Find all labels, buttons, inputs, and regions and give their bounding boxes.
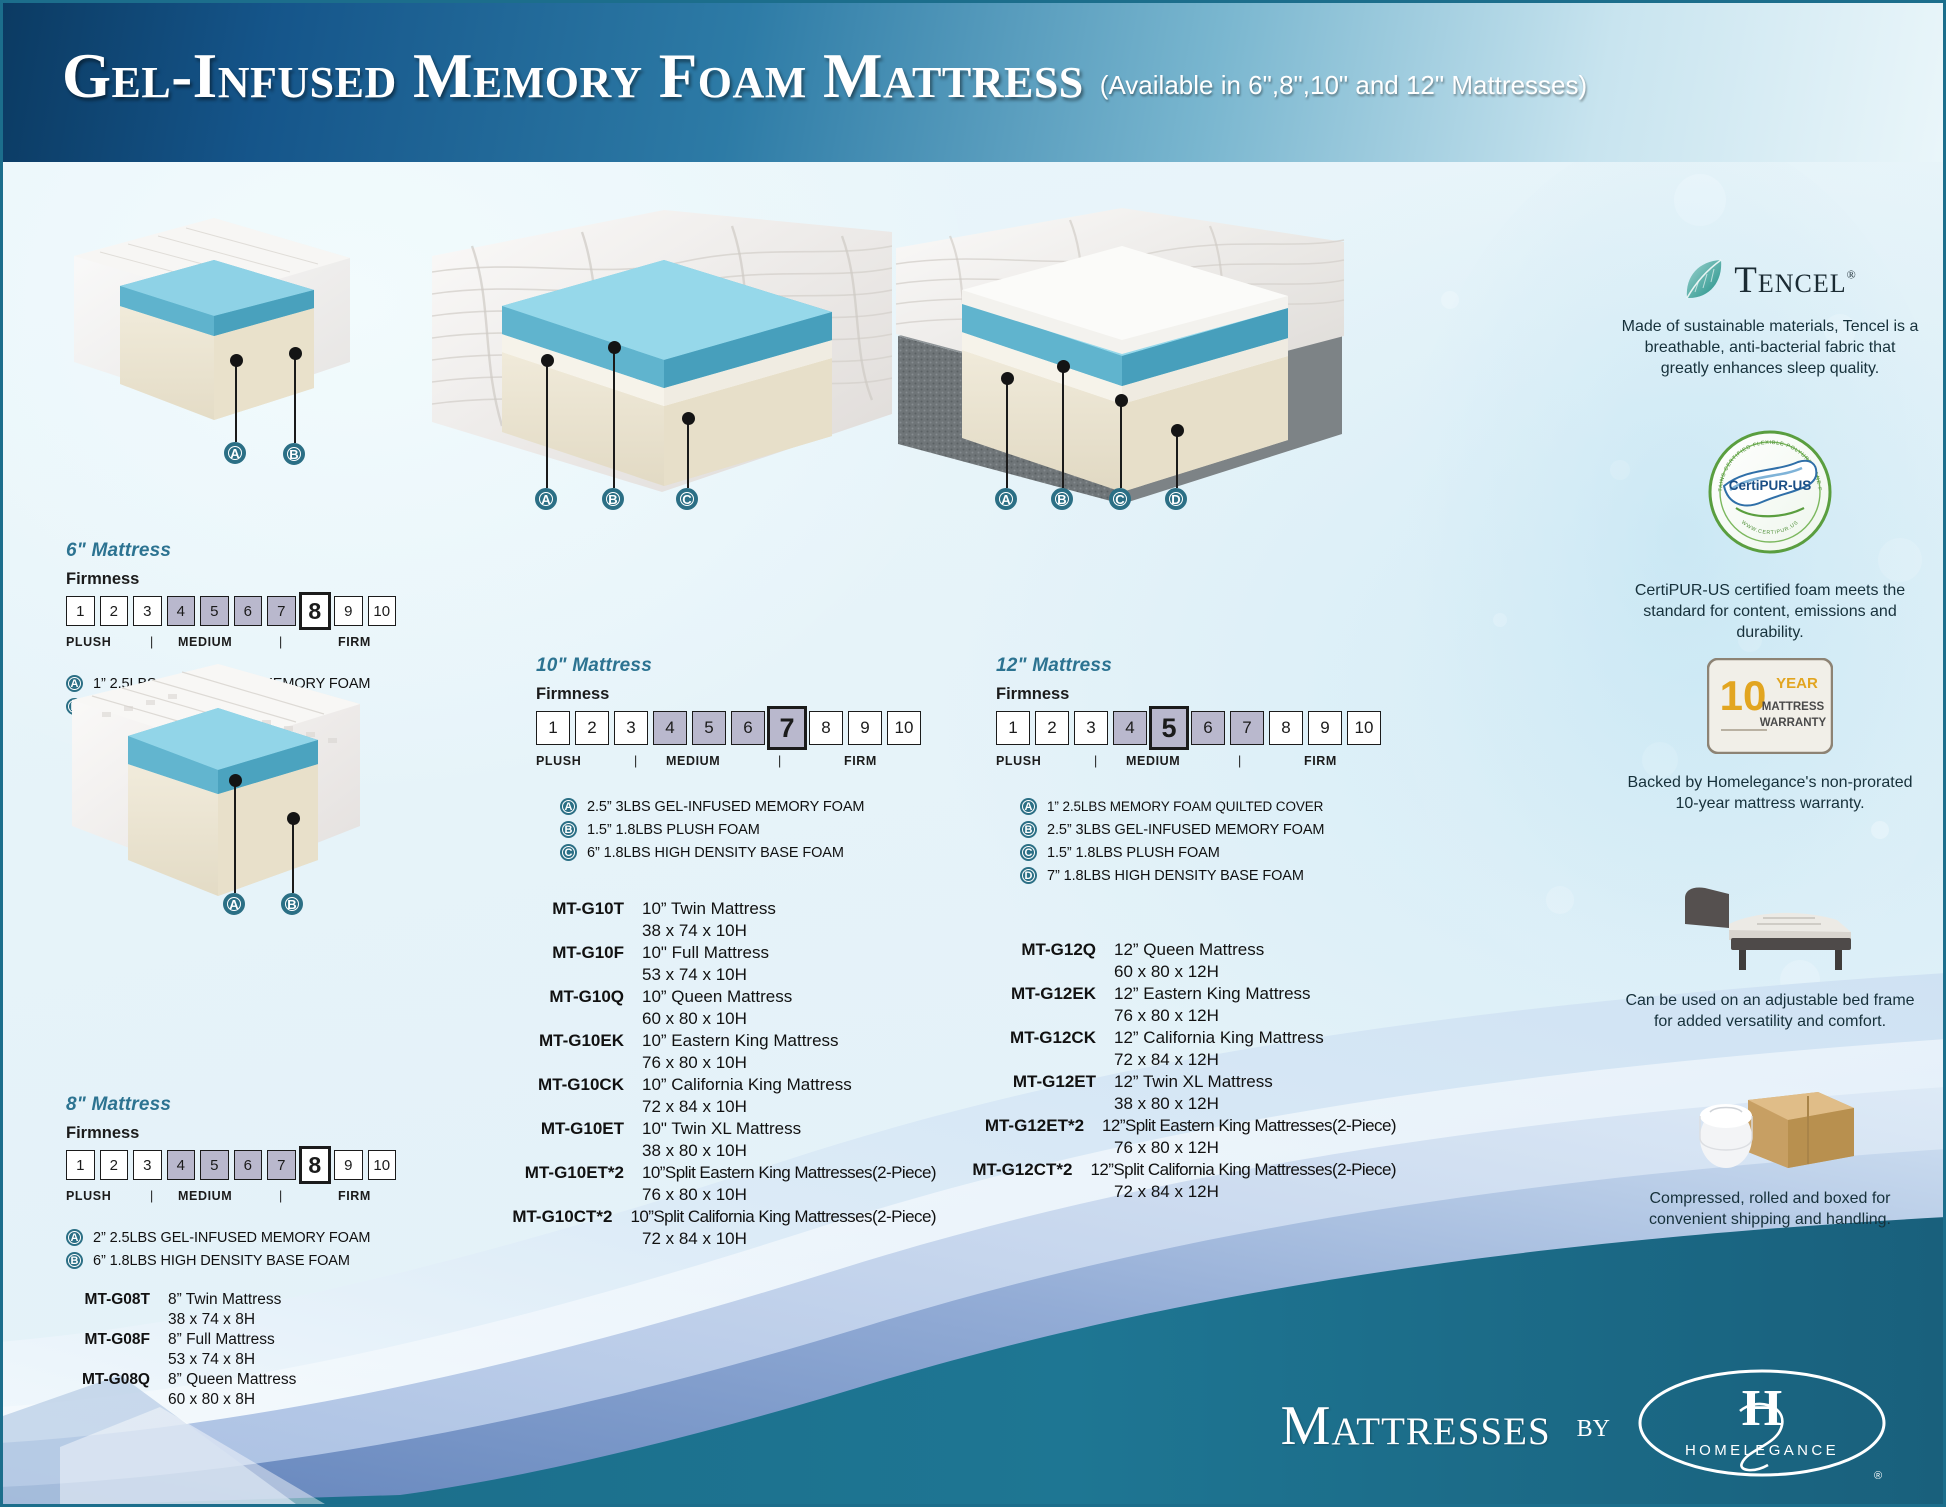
- scale-legend-10in: PLUSH | MEDIUM | FIRM: [536, 754, 936, 774]
- layer-text: 2” 2.5LBS GEL-INFUSED MEMORY FOAM: [93, 1230, 370, 1246]
- model-description: 10” Eastern King Mattress: [642, 1031, 839, 1051]
- firmness-label-6in: Firmness: [66, 570, 396, 589]
- spec-block-8in: 8" Mattress Firmness 12345678910 PLUSH |…: [66, 1094, 396, 1411]
- footer-by-word: by: [1577, 1407, 1610, 1445]
- model-sku: MT-G10EK: [424, 1031, 624, 1051]
- firmness-cell-4[interactable]: 4: [1113, 711, 1147, 745]
- firmness-cell-4[interactable]: 4: [167, 596, 196, 626]
- spec-title-8in: 8" Mattress: [66, 1094, 396, 1116]
- mattress-image-10in: [432, 210, 892, 500]
- model-description: 12”Split California King Mattresses(2-Pi…: [1090, 1160, 1396, 1180]
- model-dimension-row: 53 x 74 x 10H: [424, 965, 936, 985]
- firmness-scale-12in[interactable]: 12345678910: [996, 711, 1396, 745]
- firmness-cell-9[interactable]: 9: [334, 596, 363, 626]
- model-sku: MT-G12EK: [888, 984, 1096, 1004]
- legend-firm: FIRM: [338, 635, 371, 649]
- model-dimensions: 76 x 80 x 12H: [1114, 1006, 1219, 1026]
- firmness-cell-1[interactable]: 1: [66, 1150, 95, 1180]
- model-description: 10” Twin Mattress: [642, 899, 776, 919]
- layer-text: 6” 1.8LBS HIGH DENSITY BASE FOAM: [93, 1253, 350, 1269]
- firmness-cell-3[interactable]: 3: [1074, 711, 1108, 745]
- model-sku: MT-G10F: [424, 943, 624, 963]
- model-dimensions: 72 x 84 x 10H: [642, 1229, 747, 1249]
- scale-legend-12in: PLUSH | MEDIUM | FIRM: [996, 754, 1396, 774]
- layer-badge-c: C: [1020, 844, 1037, 861]
- model-dimension-row: 38 x 80 x 12H: [888, 1094, 1396, 1114]
- firmness-cell-8[interactable]: 8: [299, 1146, 332, 1184]
- layer-badge-b: B: [560, 821, 577, 838]
- firmness-cell-10[interactable]: 10: [368, 1150, 397, 1180]
- firmness-cell-5[interactable]: 5: [692, 711, 726, 745]
- model-description: 8” Full Mattress: [168, 1331, 275, 1349]
- firmness-cell-4[interactable]: 4: [653, 711, 687, 745]
- spacer: [424, 921, 642, 941]
- model-dimension-row: 76 x 80 x 12H: [888, 1138, 1396, 1158]
- firmness-cell-10[interactable]: 10: [368, 596, 397, 626]
- model-dimension-row: 60 x 80 x 8H: [66, 1391, 396, 1409]
- model-description: 10” Queen Mattress: [642, 987, 792, 1007]
- firmness-cell-6[interactable]: 6: [234, 1150, 263, 1180]
- model-dimensions: 38 x 80 x 12H: [1114, 1094, 1219, 1114]
- model-dimensions: 60 x 80 x 12H: [1114, 962, 1219, 982]
- spec-block-10in: 10" Mattress Firmness 12345678910 PLUSH …: [536, 655, 936, 1251]
- spacer: [66, 1311, 168, 1329]
- layer-legend-10in: A2.5” 3LBS GEL-INFUSED MEMORY FOAMB1.5” …: [560, 798, 936, 861]
- firmness-cell-7[interactable]: 7: [1230, 711, 1264, 745]
- layer-text: 1” 2.5LBS MEMORY FOAM QUILTED COVER: [1047, 799, 1323, 814]
- layer-text: 6” 1.8LBS HIGH DENSITY BASE FOAM: [587, 845, 844, 861]
- model-row: MT-G12EK12” Eastern King Mattress: [888, 984, 1396, 1004]
- layer-row-c: C1.5” 1.8LBS PLUSH FOAM: [1020, 844, 1396, 861]
- model-description: 10” California King Mattress: [642, 1075, 852, 1095]
- model-row: MT-G08Q8” Queen Mattress: [66, 1371, 396, 1389]
- certipur-badge: CONTAINS CERTIFIED FLEXIBLE POLYURETHANE…: [1706, 428, 1834, 556]
- sidebar-tencel: Tencel® Made of sustainable materials, T…: [1620, 258, 1920, 379]
- layer-text: 2.5” 3LBS GEL-INFUSED MEMORY FOAM: [1047, 822, 1324, 838]
- spacer: [888, 1006, 1114, 1026]
- model-row: MT-G10ET*210”Split Eastern King Mattress…: [424, 1163, 936, 1183]
- model-description: 10”Split California King Mattresses(2-Pi…: [630, 1207, 936, 1227]
- layer-row-a: A1” 2.5LBS MEMORY FOAM QUILTED COVER: [1020, 798, 1396, 815]
- adjustable-bed-icon: [1665, 880, 1875, 976]
- layer-badge-a: A: [66, 1229, 83, 1246]
- layer-legend-12in: A1” 2.5LBS MEMORY FOAM QUILTED COVERB2.5…: [1020, 798, 1396, 884]
- model-row: MT-G10Q10” Queen Mattress: [424, 987, 936, 1007]
- model-dimension-row: 76 x 80 x 12H: [888, 1006, 1396, 1026]
- model-dimension-row: 76 x 80 x 10H: [424, 1185, 936, 1205]
- footer-mattresses-word: Mattresses: [1281, 1394, 1551, 1458]
- warranty-line2: WARRANTY: [1760, 717, 1827, 729]
- model-row: MT-G10F10" Full Mattress: [424, 943, 936, 963]
- spacer: [424, 965, 642, 985]
- spacer: [66, 1391, 168, 1409]
- model-dimensions: 76 x 80 x 10H: [642, 1053, 747, 1073]
- warranty-badge: 10 YEAR MATTRESS WARRANTY: [1707, 658, 1833, 754]
- model-row: MT-G10CT*210”Split California King Mattr…: [424, 1207, 936, 1227]
- sidebar-adjustable: Can be used on an adjustable bed frame f…: [1620, 880, 1920, 1032]
- model-dimensions: 38 x 74 x 10H: [642, 921, 747, 941]
- firmness-cell-5[interactable]: 5: [200, 1150, 229, 1180]
- model-dimension-row: 72 x 84 x 12H: [888, 1182, 1396, 1202]
- shipping-box-icon: [1690, 1082, 1850, 1174]
- layer-badge-a: A: [1020, 798, 1037, 815]
- model-dimension-row: 60 x 80 x 12H: [888, 962, 1396, 982]
- model-dimensions: 38 x 80 x 10H: [642, 1141, 747, 1161]
- page-subtitle: (Available in 6",8",10" and 12" Mattress…: [1100, 70, 1587, 106]
- spacer: [66, 1351, 168, 1369]
- model-list-12in: MT-G12Q12” Queen Mattress60 x 80 x 12HMT…: [888, 940, 1396, 1202]
- spacer: [424, 1185, 642, 1205]
- firmness-cell-10[interactable]: 10: [887, 711, 921, 745]
- layer-text: 1.5” 1.8LBS PLUSH FOAM: [1047, 845, 1220, 861]
- model-dimension-row: 38 x 74 x 10H: [424, 921, 936, 941]
- adjustable-description: Can be used on an adjustable bed frame f…: [1620, 990, 1920, 1032]
- scale-legend-6in: PLUSH | MEDIUM | FIRM: [66, 635, 396, 655]
- firmness-cell-2[interactable]: 2: [575, 711, 609, 745]
- firmness-cell-10[interactable]: 10: [1347, 711, 1381, 745]
- sidebar-warranty: 10 YEAR MATTRESS WARRANTY Backed by Home…: [1620, 658, 1920, 814]
- model-dimensions: 72 x 84 x 10H: [642, 1097, 747, 1117]
- footer-brand: Mattresses by H HOMELEGANCE ®: [1281, 1367, 1888, 1485]
- layer-row-a: A2.5” 3LBS GEL-INFUSED MEMORY FOAM: [560, 798, 936, 815]
- spacer: [888, 962, 1114, 982]
- firmness-cell-2[interactable]: 2: [100, 596, 129, 626]
- model-row: MT-G08T8” Twin Mattress: [66, 1291, 396, 1309]
- firmness-cell-8[interactable]: 8: [299, 592, 332, 630]
- tencel-description: Made of sustainable materials, Tencel is…: [1620, 316, 1920, 379]
- model-sku: MT-G08Q: [66, 1371, 150, 1389]
- firmness-cell-2[interactable]: 2: [1035, 711, 1069, 745]
- model-row: MT-G12ET*212”Split Eastern King Mattress…: [888, 1116, 1396, 1136]
- model-dimension-row: 60 x 80 x 10H: [424, 1009, 936, 1029]
- firmness-cell-6[interactable]: 6: [1191, 711, 1225, 745]
- warranty-line1: MATTRESS: [1762, 701, 1825, 713]
- model-sku: MT-G08T: [66, 1291, 150, 1309]
- legend-plush: PLUSH: [66, 635, 111, 649]
- firmness-label-8in: Firmness: [66, 1124, 396, 1143]
- spec-block-12in: 12" Mattress Firmness 12345678910 PLUSH …: [996, 655, 1396, 1204]
- sidebar-certipur: CONTAINS CERTIFIED FLEXIBLE POLYURETHANE…: [1620, 428, 1920, 643]
- leaf-icon: [1683, 258, 1725, 302]
- layer-row-b: B6” 1.8LBS HIGH DENSITY BASE FOAM: [66, 1252, 396, 1269]
- model-row: MT-G10EK10” Eastern King Mattress: [424, 1031, 936, 1051]
- firmness-cell-9[interactable]: 9: [848, 711, 882, 745]
- firmness-cell-1[interactable]: 1: [996, 711, 1030, 745]
- model-sku: MT-G10T: [424, 899, 624, 919]
- layer-legend-8in: A2” 2.5LBS GEL-INFUSED MEMORY FOAMB6” 1.…: [66, 1229, 396, 1269]
- scale-legend-8in: PLUSH | MEDIUM | FIRM: [66, 1189, 396, 1209]
- firmness-cell-3[interactable]: 3: [133, 1150, 162, 1180]
- layer-text: 1.5” 1.8LBS PLUSH FOAM: [587, 822, 760, 838]
- sidebar-shipping: Compressed, rolled and boxed for conveni…: [1620, 1082, 1920, 1230]
- firmness-cell-1[interactable]: 1: [536, 711, 570, 745]
- firmness-cell-4[interactable]: 4: [167, 1150, 196, 1180]
- model-dimensions: 76 x 80 x 10H: [642, 1185, 747, 1205]
- model-sku: MT-G12ET: [888, 1072, 1096, 1092]
- spec-sheet: Gel-Infused Memory Foam Mattress (Availa…: [0, 0, 1946, 1507]
- spacer: [424, 1141, 642, 1161]
- spacer: [424, 1009, 642, 1029]
- firmness-cell-3[interactable]: 3: [614, 711, 648, 745]
- firmness-cell-7[interactable]: 7: [267, 596, 296, 626]
- certipur-description: CertiPUR-US certified foam meets the sta…: [1620, 580, 1920, 643]
- model-row: MT-G10CK10” California King Mattress: [424, 1075, 936, 1095]
- layer-row-d: D7” 1.8LBS HIGH DENSITY BASE FOAM: [1020, 867, 1396, 884]
- model-description: 8” Twin Mattress: [168, 1291, 281, 1309]
- layer-row-c: C6” 1.8LBS HIGH DENSITY BASE FOAM: [560, 844, 936, 861]
- firmness-cell-1[interactable]: 1: [66, 596, 95, 626]
- model-dimension-row: 72 x 84 x 12H: [888, 1050, 1396, 1070]
- model-row: MT-G10T10” Twin Mattress: [424, 899, 936, 919]
- model-description: 8” Queen Mattress: [168, 1371, 296, 1389]
- certipur-title: CertiPUR-US: [1729, 478, 1812, 493]
- spacer: [888, 1094, 1114, 1114]
- firmness-cell-3[interactable]: 3: [133, 596, 162, 626]
- header-band: Gel-Infused Memory Foam Mattress (Availa…: [0, 0, 1946, 162]
- firmness-cell-6[interactable]: 6: [234, 596, 263, 626]
- model-dimensions: 38 x 74 x 8H: [168, 1311, 255, 1329]
- mattress-image-8in: [66, 660, 366, 930]
- logo-registered: ®: [1874, 1470, 1882, 1482]
- model-sku: MT-G10Q: [424, 987, 624, 1007]
- model-sku: MT-G12CK: [888, 1028, 1096, 1048]
- layer-badge-c: C: [560, 844, 577, 861]
- firmness-scale-10in[interactable]: 12345678910: [536, 711, 936, 745]
- model-dimension-row: 72 x 84 x 10H: [424, 1229, 936, 1249]
- layer-badge-b: B: [66, 1252, 83, 1269]
- spacer: [424, 1229, 642, 1249]
- layer-row-a: A2” 2.5LBS GEL-INFUSED MEMORY FOAM: [66, 1229, 396, 1246]
- firmness-label-12in: Firmness: [996, 685, 1396, 704]
- model-sku: MT-G12ET*2: [888, 1116, 1084, 1136]
- firmness-cell-7[interactable]: 7: [267, 1150, 296, 1180]
- spacer: [424, 1053, 642, 1073]
- layer-text: 7” 1.8LBS HIGH DENSITY BASE FOAM: [1047, 868, 1304, 884]
- model-description: 12” Eastern King Mattress: [1114, 984, 1311, 1004]
- firmness-cell-5[interactable]: 5: [1149, 706, 1189, 750]
- model-dimension-row: 38 x 74 x 8H: [66, 1311, 396, 1329]
- model-dimensions: 76 x 80 x 12H: [1114, 1138, 1219, 1158]
- firmness-label-10in: Firmness: [536, 685, 936, 704]
- layer-badge-a: A: [560, 798, 577, 815]
- model-row: MT-G12ET12” Twin XL Mattress: [888, 1072, 1396, 1092]
- spacer: [424, 1097, 642, 1117]
- firmness-cell-5[interactable]: 5: [200, 596, 229, 626]
- model-list-10in: MT-G10T10” Twin Mattress38 x 74 x 10HMT-…: [424, 899, 936, 1249]
- model-row: MT-G12CK12” California King Mattress: [888, 1028, 1396, 1048]
- layer-text: 2.5” 3LBS GEL-INFUSED MEMORY FOAM: [587, 799, 864, 815]
- model-sku: MT-G10ET: [424, 1119, 624, 1139]
- model-dimension-row: 72 x 84 x 10H: [424, 1097, 936, 1117]
- firmness-cell-2[interactable]: 2: [100, 1150, 129, 1180]
- warranty-number: 10: [1720, 672, 1767, 719]
- warranty-year: YEAR: [1776, 675, 1818, 692]
- layer-badge-b: B: [1020, 821, 1037, 838]
- model-dimension-row: 76 x 80 x 10H: [424, 1053, 936, 1073]
- spacer: [888, 1138, 1114, 1158]
- mattress-image-6in: [66, 212, 356, 442]
- model-description: 12”Split Eastern King Mattresses(2-Piece…: [1102, 1116, 1396, 1136]
- firmness-scale-8in[interactable]: 12345678910: [66, 1150, 396, 1180]
- model-row: MT-G12Q12” Queen Mattress: [888, 940, 1396, 960]
- model-description: 10" Full Mattress: [642, 943, 769, 963]
- model-sku: MT-G10ET*2: [424, 1163, 624, 1183]
- model-sku: MT-G10CK: [424, 1075, 624, 1095]
- model-dimensions: 53 x 74 x 10H: [642, 965, 747, 985]
- model-dimensions: 72 x 84 x 12H: [1114, 1182, 1219, 1202]
- model-description: 12” California King Mattress: [1114, 1028, 1324, 1048]
- model-row: MT-G12CT*212”Split California King Mattr…: [888, 1160, 1396, 1180]
- spec-title-10in: 10" Mattress: [536, 655, 936, 677]
- model-description: 12” Twin XL Mattress: [1114, 1072, 1273, 1092]
- model-row: MT-G10ET10" Twin XL Mattress: [424, 1119, 936, 1139]
- model-dimension-row: 53 x 74 x 8H: [66, 1351, 396, 1369]
- layer-badge-d: D: [1020, 867, 1037, 884]
- model-list-8in: MT-G08T8” Twin Mattress38 x 74 x 8HMT-G0…: [66, 1291, 396, 1409]
- model-dimensions: 60 x 80 x 10H: [642, 1009, 747, 1029]
- firmness-cell-9[interactable]: 9: [1308, 711, 1342, 745]
- homelegance-logo: H HOMELEGANCE ®: [1636, 1367, 1888, 1485]
- firmness-cell-6[interactable]: 6: [731, 711, 765, 745]
- logo-wordmark: HOMELEGANCE: [1685, 1442, 1839, 1459]
- tencel-wordmark: Tencel®: [1734, 259, 1857, 302]
- firmness-cell-8[interactable]: 8: [1269, 711, 1303, 745]
- model-dimension-row: 38 x 80 x 10H: [424, 1141, 936, 1161]
- warranty-description: Backed by Homelegance's non-prorated 10-…: [1620, 772, 1920, 814]
- firmness-cell-9[interactable]: 9: [334, 1150, 363, 1180]
- layer-row-b: B1.5” 1.8LBS PLUSH FOAM: [560, 821, 936, 838]
- spacer: [888, 1050, 1114, 1070]
- layer-row-b: B2.5” 3LBS GEL-INFUSED MEMORY FOAM: [1020, 821, 1396, 838]
- firmness-cell-8[interactable]: 8: [809, 711, 843, 745]
- model-sku: MT-G10CT*2: [424, 1207, 612, 1227]
- firmness-cell-7[interactable]: 7: [767, 706, 807, 750]
- spacer: [888, 1182, 1114, 1202]
- spec-title-6in: 6" Mattress: [66, 540, 396, 562]
- model-dimensions: 53 x 74 x 8H: [168, 1351, 255, 1369]
- model-dimensions: 72 x 84 x 12H: [1114, 1050, 1219, 1070]
- spec-title-12in: 12" Mattress: [996, 655, 1396, 677]
- model-dimensions: 60 x 80 x 8H: [168, 1391, 255, 1409]
- model-row: MT-G08F8” Full Mattress: [66, 1331, 396, 1349]
- model-description: 10" Twin XL Mattress: [642, 1119, 801, 1139]
- legend-medium: MEDIUM: [178, 635, 232, 649]
- model-sku: MT-G12CT*2: [888, 1160, 1072, 1180]
- model-sku: MT-G08F: [66, 1331, 150, 1349]
- shipping-description: Compressed, rolled and boxed for conveni…: [1620, 1188, 1920, 1230]
- model-sku: MT-G12Q: [888, 940, 1096, 960]
- page-title: Gel-Infused Memory Foam Mattress: [62, 46, 1084, 106]
- model-description: 12” Queen Mattress: [1114, 940, 1264, 960]
- firmness-scale-6in[interactable]: 12345678910: [66, 596, 396, 626]
